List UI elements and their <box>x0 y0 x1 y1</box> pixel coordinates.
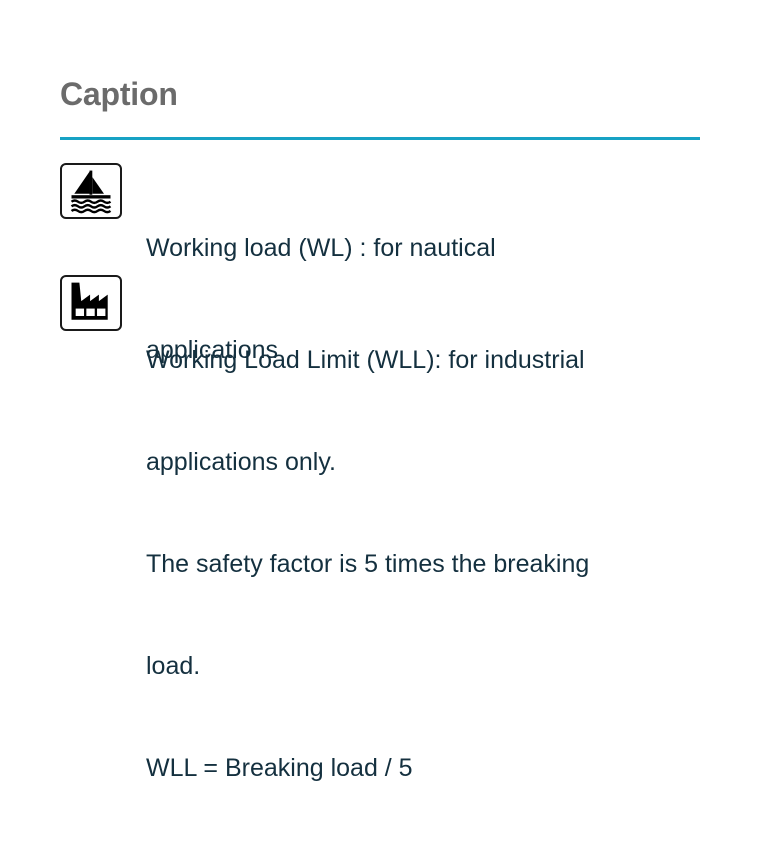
list-item: Working Load Limit (WLL): for industrial… <box>60 275 589 853</box>
list-item-line: applications only. <box>146 445 589 479</box>
list-item-text: Working Load Limit (WLL): for industrial… <box>146 275 589 853</box>
factory-icon <box>60 275 122 331</box>
slide-canvas: Caption Working load (WL) : for nautical… <box>0 0 780 584</box>
sailboat-icon <box>60 163 122 219</box>
list-item-line: The safety factor is 5 times the breakin… <box>146 547 589 581</box>
list-item-line: load. <box>146 649 589 683</box>
list-item-line: Working Load Limit (WLL): for industrial <box>146 343 589 377</box>
list-item-line: Working load (WL) : for nautical <box>146 231 496 265</box>
list-item-line: WLL = Breaking load / 5 <box>146 751 589 785</box>
title-divider-rule <box>60 137 700 140</box>
page-title: Caption <box>60 74 178 114</box>
